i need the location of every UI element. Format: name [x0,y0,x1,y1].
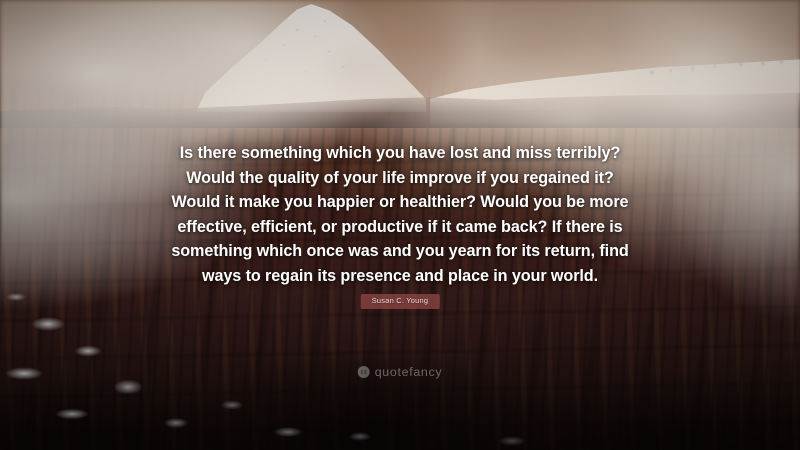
author-attribution-badge[interactable]: Susan C. Young [361,294,440,309]
quote-line: ways to regain its presence and place in… [140,264,660,289]
quotefancy-brand-text: quotefancy [375,366,443,378]
quote-line: something which once was and you yearn f… [140,239,660,264]
wallpaper-content: Is there something which you have lost a… [0,0,800,450]
quote-line: Would it make you happier or healthier? … [140,190,660,215]
quote-line: Is there something which you have lost a… [140,141,660,166]
quote-line: Would the quality of your life improve i… [140,166,660,191]
quotefancy-watermark[interactable]: quotefancy [358,366,443,378]
quote-text: Is there something which you have lost a… [140,141,660,289]
quote-wallpaper: Is there something which you have lost a… [0,0,800,450]
quotefancy-logo-icon [358,366,370,378]
quote-line: effective, efficient, or productive if i… [140,215,660,240]
